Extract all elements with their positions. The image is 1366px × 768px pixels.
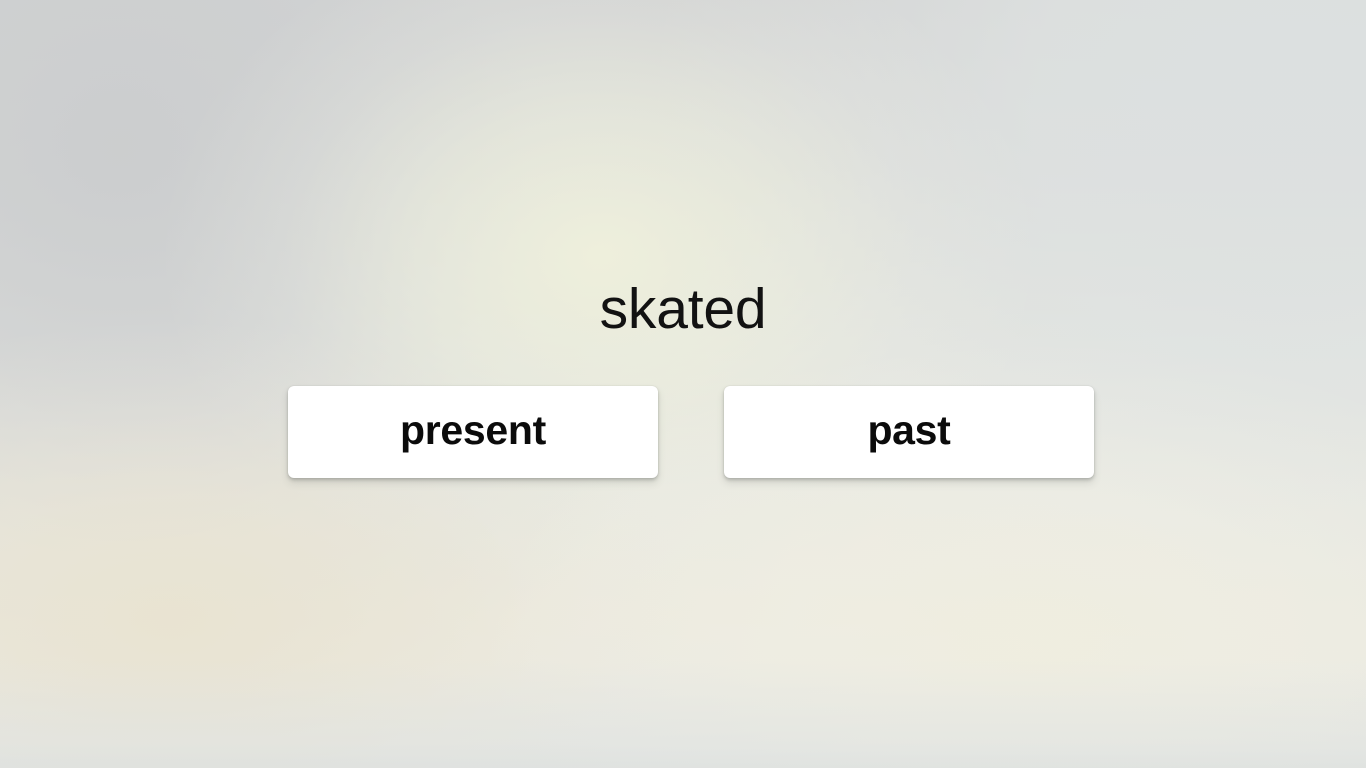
answer-options-row: present past xyxy=(288,386,1094,478)
quiz-content: skated present past xyxy=(0,0,1366,768)
answer-option-present-label: present xyxy=(400,410,546,454)
answer-option-past[interactable]: past xyxy=(724,386,1094,478)
answer-option-past-label: past xyxy=(867,410,950,454)
prompt-word: skated xyxy=(0,281,1366,338)
answer-option-present[interactable]: present xyxy=(288,386,658,478)
quiz-screen: skated present past xyxy=(0,0,1366,768)
